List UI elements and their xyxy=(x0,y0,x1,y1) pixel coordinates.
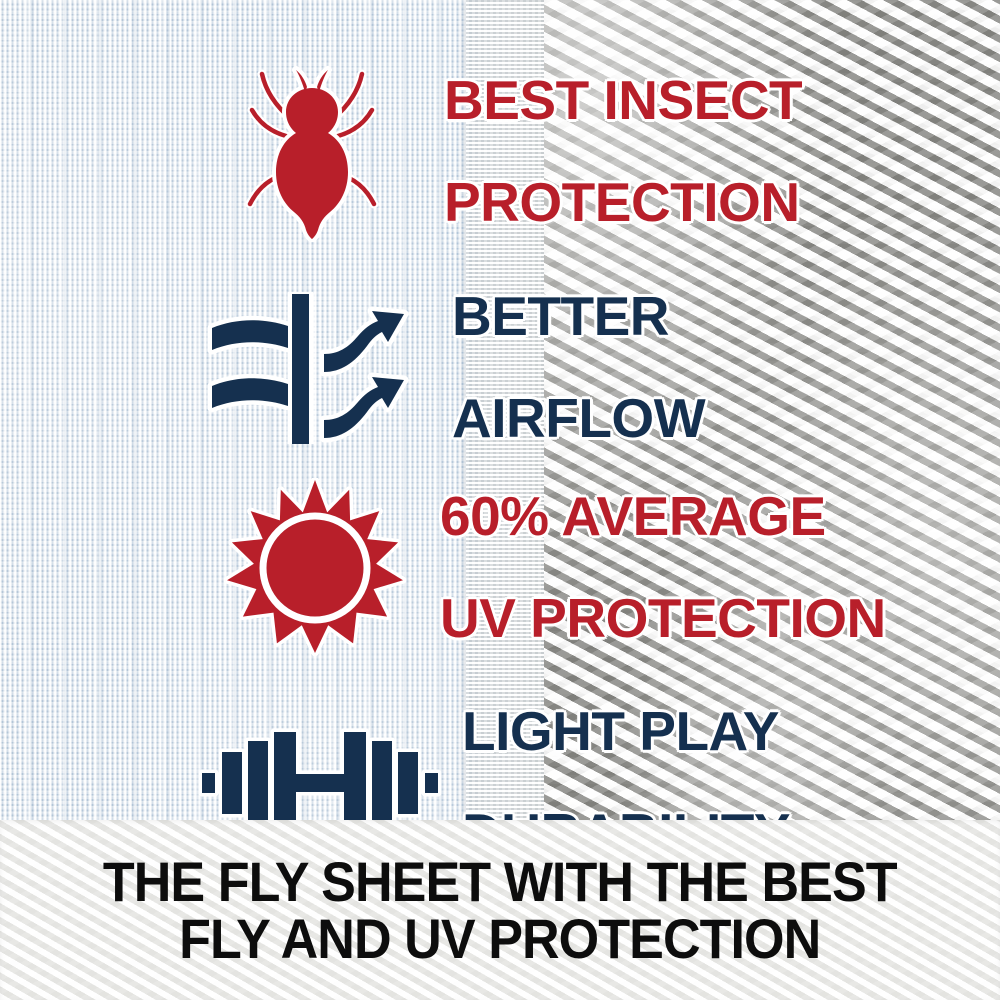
product-feature-infographic: BEST INSECT PROTECTION xyxy=(0,0,1000,1000)
feature-label-line-2: PROTECTION xyxy=(444,177,802,228)
fly-icon xyxy=(228,62,396,242)
feature-label-line-1: LIGHT PLAY xyxy=(462,706,790,757)
feature-label-line-1: 60% AVERAGE xyxy=(440,491,886,542)
feature-label-line-1: BEST INSECT xyxy=(444,75,802,126)
banner-headline-line-2: FLY AND UV PROTECTION xyxy=(179,910,820,967)
feature-label-line-2: UV PROTECTION xyxy=(440,593,886,644)
feature-label-line-1: BETTER xyxy=(452,291,705,342)
feature-list: BEST INSECT PROTECTION xyxy=(0,0,1000,820)
feature-label-line-2: AIRFLOW xyxy=(452,393,705,444)
airflow-arrows-icon xyxy=(206,292,420,444)
banner-headline-line-1: THE FLY SHEET WITH THE BEST xyxy=(103,853,897,910)
sun-icon xyxy=(222,478,408,658)
bottom-headline-banner: THE FLY SHEET WITH THE BEST FLY AND UV P… xyxy=(0,820,1000,1000)
